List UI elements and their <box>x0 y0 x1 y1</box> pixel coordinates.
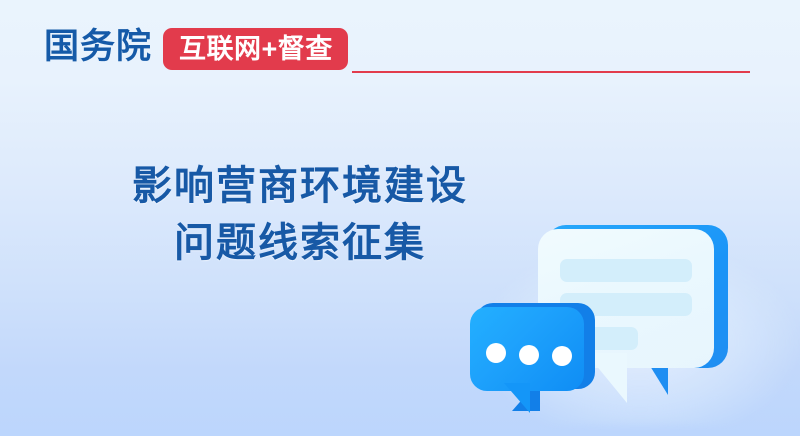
ellipsis-dot-2 <box>519 345 539 365</box>
program-badge: 互联网+督查 <box>163 28 348 70</box>
campaign-banner: 国务院 互联网+督查 影响营商环境建设 问题线索征集 <box>0 0 800 436</box>
program-badge-label: 互联网+督查 <box>179 34 333 64</box>
small-bubble-tail <box>496 383 530 413</box>
ellipsis-dot-3 <box>552 346 572 366</box>
speech-bubbles-illustration <box>470 215 800 436</box>
small-bubble-face <box>470 307 584 391</box>
small-speech-bubble-icon <box>470 303 595 421</box>
large-bubble-text-bar-1 <box>560 259 692 282</box>
header-divider-rule <box>352 71 750 73</box>
headline-line-1: 影响营商环境建设 <box>0 158 600 215</box>
ellipsis-dots-icon <box>486 343 572 363</box>
organization-title: 国务院 <box>44 25 152 69</box>
banner-header: 国务院 互联网+督查 <box>0 0 800 80</box>
ellipsis-dot-1 <box>486 343 506 363</box>
